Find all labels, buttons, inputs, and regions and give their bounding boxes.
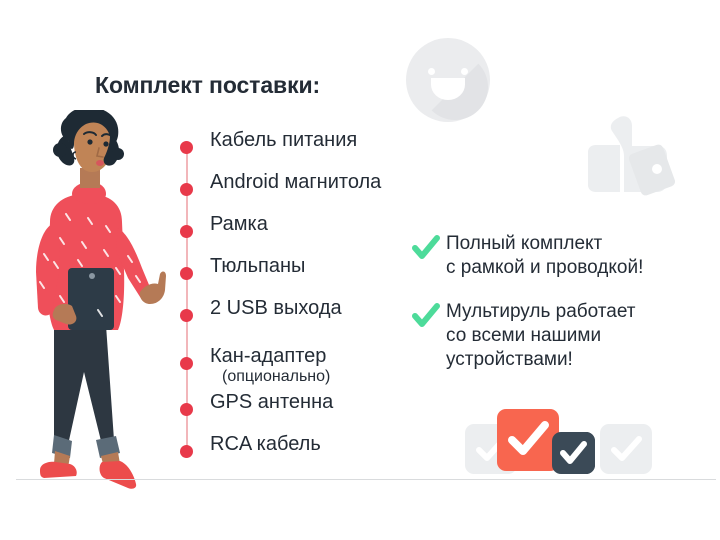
bullet-dot-icon	[180, 267, 193, 280]
checkbox-card-coral	[497, 409, 559, 471]
avito-watermark: Avito	[612, 500, 708, 530]
claim-line-1: Мультируль работает	[446, 300, 636, 324]
list-item-label: Тюльпаны	[210, 255, 305, 278]
bullet-dot-icon	[180, 403, 193, 416]
list-item-label: GPS антенна	[210, 391, 333, 414]
claim-text: Мультируль работает со всеми нашими устр…	[446, 300, 636, 372]
list-item-label: Рамка	[210, 213, 268, 236]
checkbox-card-gray-right	[600, 424, 652, 474]
list-item-label: Android магнитола	[210, 171, 381, 194]
bullet-dot-icon	[180, 309, 193, 322]
bullet-dot-icon	[180, 183, 193, 196]
bullet-dot-icon	[180, 141, 193, 154]
green-check-icon	[412, 235, 440, 261]
bullet-dot-icon	[180, 225, 193, 238]
claim-line-2: со всеми нашими	[446, 324, 636, 348]
claim-text: Полный комплект с рамкой и проводкой!	[446, 232, 643, 280]
green-check-icon	[412, 303, 440, 329]
list-item-label: Кабель питания	[210, 129, 357, 152]
bullet-dot-icon	[180, 445, 193, 458]
promo-image: Комплект поставки: Кабель питания Androi…	[0, 0, 720, 540]
bullet-dot-icon	[180, 357, 193, 370]
list-item-label: RCA кабель	[210, 433, 321, 456]
claim-line-1: Полный комплект	[446, 232, 643, 256]
list-item-label: 2 USB выхода	[210, 297, 342, 320]
list-item-label: Кан-адаптер	[210, 345, 326, 368]
claim-line-3: устройствами!	[446, 348, 636, 372]
claim-line-2: с рамкой и проводкой!	[446, 256, 643, 280]
list-item-sublabel: (опционально)	[222, 368, 330, 386]
checkbox-card-navy	[552, 432, 595, 474]
avito-watermark-label: Avito	[644, 505, 696, 528]
